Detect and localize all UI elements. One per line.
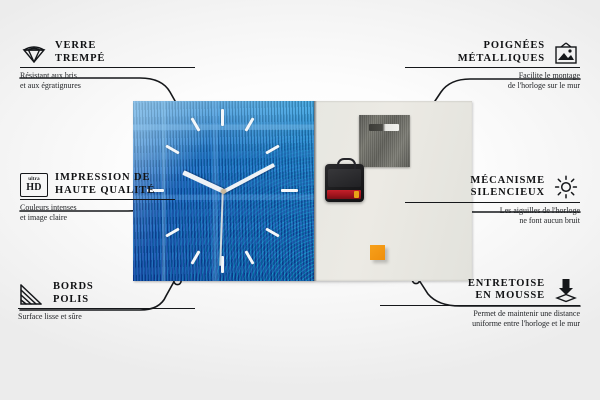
- callout-polished-edges: BORDS POLIS Surface lisse et sûre: [18, 281, 195, 322]
- callout-desc-line2: ne font aucun bruit: [519, 216, 580, 225]
- diamond-icon: [20, 41, 48, 65]
- callout-rule: [380, 305, 580, 306]
- callout-title-line2: HAUTE QUALITÉ: [55, 185, 155, 196]
- callout-title-line2: TREMPÉ: [55, 53, 105, 64]
- callout-high-quality-print: ultra HD IMPRESSION DE HAUTE QUALITÉ Cou…: [20, 172, 175, 223]
- callout-rule: [18, 308, 195, 309]
- hour-tick: [244, 250, 254, 264]
- clock-hand-hub: [221, 189, 226, 194]
- clock-hour-hand: [182, 171, 224, 194]
- callout-desc-line1: Permet de maintenir une distance: [473, 309, 580, 318]
- ultra-hd-badge-icon: ultra HD: [20, 173, 48, 197]
- hour-tick: [221, 109, 224, 126]
- callout-title-line1: ENTRETOISE: [468, 278, 545, 289]
- callout-tempered-glass: VERRE TREMPÉ Résistant aux bris et aux é…: [20, 40, 195, 91]
- callout-desc-line1: Facilite le montage: [519, 71, 580, 80]
- callout-desc-line2: uniforme entre l'horloge et le mur: [472, 319, 580, 328]
- picture-frame-icon: [552, 41, 580, 65]
- callout-desc-line1: Résistant aux bris: [20, 71, 77, 80]
- hour-tick: [281, 189, 298, 192]
- callout-rule: [405, 202, 580, 203]
- callout-title-line1: IMPRESSION DE: [55, 172, 150, 183]
- clock-minute-hand: [222, 163, 275, 194]
- callout-desc-line2: et aux égratignures: [20, 81, 81, 90]
- metal-hanger-plate: [359, 115, 410, 167]
- clock-second-hand: [220, 191, 224, 265]
- hanger-slot: [369, 124, 399, 131]
- arrow-down-pad-icon: [552, 277, 580, 303]
- callout-title-line1: VERRE: [55, 40, 96, 51]
- panel-edge: [314, 101, 317, 281]
- hour-tick: [165, 227, 179, 237]
- callout-desc-line2: et image claire: [20, 213, 67, 222]
- hour-tick: [190, 250, 200, 264]
- hour-tick: [244, 117, 254, 131]
- gear-icon: [552, 174, 580, 200]
- callout-desc-line1: Surface lisse et sûre: [18, 312, 82, 321]
- ultra-label: ultra: [28, 177, 40, 182]
- hour-tick: [190, 117, 200, 131]
- callout-desc-line2: de l'horloge sur le mur: [508, 81, 580, 90]
- hd-label: HD: [26, 183, 42, 193]
- mechanism-panel: [328, 169, 361, 187]
- callout-title-line1: BORDS: [53, 281, 94, 292]
- foam-spacer: [370, 245, 385, 260]
- infographic-canvas: VERRE TREMPÉ Résistant aux bris et aux é…: [0, 0, 600, 400]
- callout-title-line1: POIGNÉES: [484, 40, 545, 51]
- callout-rule: [405, 67, 580, 68]
- hour-tick: [265, 227, 279, 237]
- callout-silent-mechanism: MÉCANISME SILENCIEUX Les aiguilles de l'…: [405, 174, 580, 226]
- callout-title-line2: POLIS: [53, 294, 89, 305]
- mechanism-hanger-loop: [337, 158, 356, 169]
- callout-desc-line1: Couleurs intenses: [20, 203, 77, 212]
- callout-title-line1: MÉCANISME: [470, 175, 545, 186]
- callout-title-line2: SILENCIEUX: [471, 187, 545, 198]
- callout-title-line2: MÉTALLIQUES: [458, 53, 545, 64]
- callout-metal-handles: POIGNÉES MÉTALLIQUES Facilite le montage…: [405, 40, 580, 91]
- battery: [327, 190, 361, 199]
- callout-foam-spacer: ENTRETOISE EN MOUSSE Permet de maintenir…: [380, 277, 580, 329]
- callout-rule: [20, 199, 175, 200]
- clock-mechanism: [325, 164, 364, 202]
- callout-rule: [20, 67, 195, 68]
- hour-tick: [265, 144, 279, 154]
- hour-tick: [165, 144, 179, 154]
- polished-edge-icon: [18, 282, 46, 306]
- callout-desc-line1: Les aiguilles de l'horloge: [500, 206, 580, 215]
- callout-title-line2: EN MOUSSE: [475, 290, 545, 301]
